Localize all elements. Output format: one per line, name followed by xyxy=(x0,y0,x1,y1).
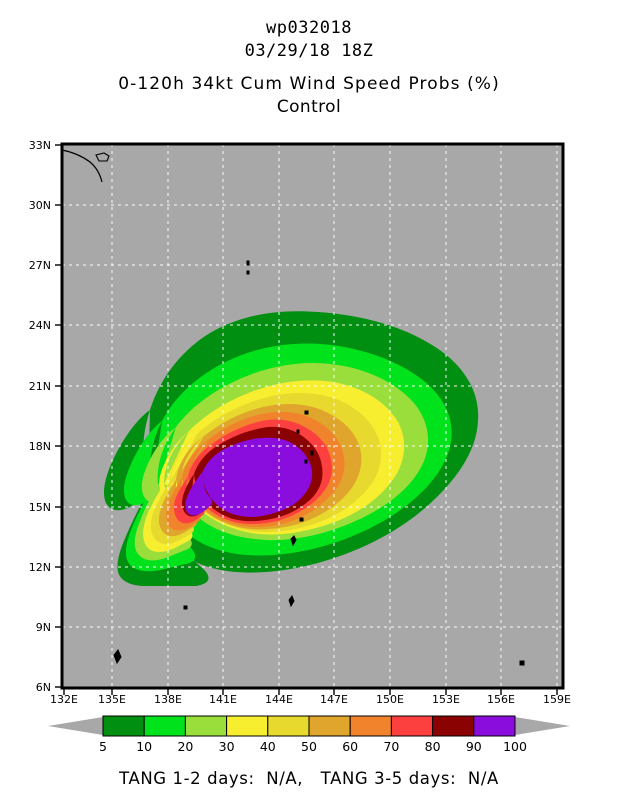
colorbar-tick-label: 60 xyxy=(342,739,358,754)
colorbar-swatch-50 xyxy=(309,716,350,736)
x-tick-label: 141E xyxy=(209,693,237,706)
x-axis: 132E 135E 138E 141E 144E 147E 150E 153E … xyxy=(50,688,571,706)
colorbar-tick-label: 40 xyxy=(260,739,276,754)
x-tick-label: 144E xyxy=(265,693,293,706)
y-tick-label: 33N xyxy=(29,139,51,152)
y-axis: 6N 9N 12N 15N 18N 21N 24N 27N 30N 33N xyxy=(29,139,62,694)
colorbar-tick-label: 10 xyxy=(136,739,152,754)
x-tick-label: 150E xyxy=(376,693,404,706)
x-tick-label: 153E xyxy=(432,693,460,706)
x-tick-label: 132E xyxy=(50,693,78,706)
y-tick-label: 27N xyxy=(29,259,51,272)
colorbar-tick-label: 5 xyxy=(99,739,107,754)
colorbar-tick-label: 100 xyxy=(503,739,527,754)
colorbar-swatch-20 xyxy=(185,716,226,736)
colorbar-swatch-10 xyxy=(144,716,185,736)
y-tick-label: 15N xyxy=(29,501,51,514)
colorbar-swatch-5 xyxy=(103,716,144,736)
y-tick-label: 18N xyxy=(29,440,51,453)
colorbar-swatch-60 xyxy=(350,716,391,736)
colorbar-swatch-90 xyxy=(474,716,515,736)
x-tick-label: 147E xyxy=(320,693,348,706)
colorbar-extend-low xyxy=(48,717,103,735)
colorbar-tick-label: 50 xyxy=(301,739,317,754)
y-tick-label: 6N xyxy=(36,681,51,694)
y-tick-label: 24N xyxy=(29,319,51,332)
colorbar-tick-label: 30 xyxy=(219,739,235,754)
x-tick-label: 159E xyxy=(543,693,571,706)
y-tick-label: 9N xyxy=(36,621,51,634)
tang-footer: TANG 1-2 days: N/A, TANG 3-5 days: N/A xyxy=(0,769,618,788)
x-tick-label: 135E xyxy=(98,693,126,706)
colorbar-tick-label: 20 xyxy=(177,739,193,754)
colorbar-swatch-80 xyxy=(433,716,474,736)
probability-colorbar: 5 10 20 30 40 50 60 70 80 90 100 xyxy=(48,716,570,754)
colorbar-swatch-70 xyxy=(391,716,432,736)
wind-speed-probability-map: 6N 9N 12N 15N 18N 21N 24N 27N 30N 33N 13… xyxy=(0,0,618,800)
y-tick-label: 30N xyxy=(29,199,51,212)
colorbar-extend-high xyxy=(515,717,570,735)
colorbar-swatch-30 xyxy=(227,716,268,736)
y-tick-label: 21N xyxy=(29,380,51,393)
y-tick-label: 12N xyxy=(29,561,51,574)
colorbar-tick-label: 90 xyxy=(466,739,482,754)
x-tick-label: 138E xyxy=(154,693,182,706)
colorbar-tick-label: 80 xyxy=(425,739,441,754)
x-tick-label: 156E xyxy=(487,693,515,706)
colorbar-tick-label: 70 xyxy=(383,739,399,754)
colorbar-swatch-40 xyxy=(268,716,309,736)
